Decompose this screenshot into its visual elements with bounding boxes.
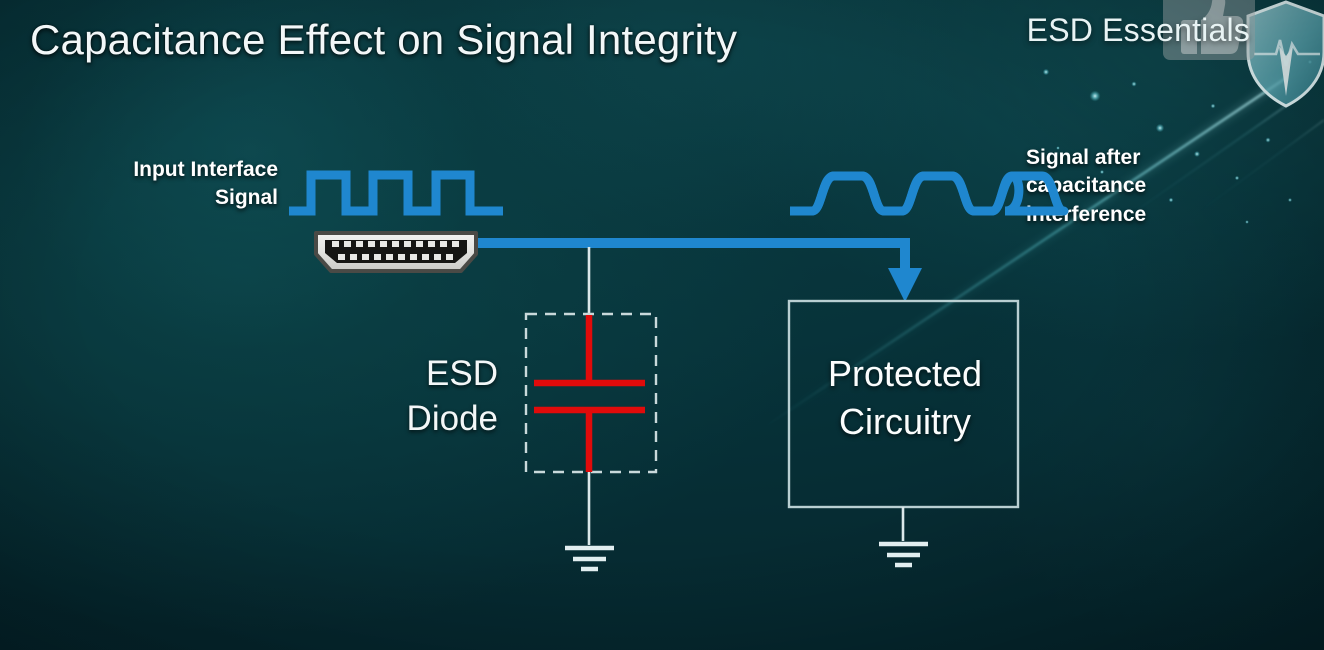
slide-canvas: Capacitance Effect on Signal Integrity E… (0, 0, 1324, 650)
ground-symbol-right (879, 544, 928, 565)
signal-trace (470, 243, 922, 302)
input-waveform (289, 175, 503, 211)
output-waveform (790, 176, 1064, 211)
ground-symbol-left (565, 548, 614, 569)
capacitor-symbol (534, 315, 645, 472)
protected-circuitry-box (789, 301, 1018, 507)
hdmi-connector (311, 229, 481, 275)
circuit-diagram (0, 0, 1324, 650)
down-arrow-icon (888, 268, 922, 302)
